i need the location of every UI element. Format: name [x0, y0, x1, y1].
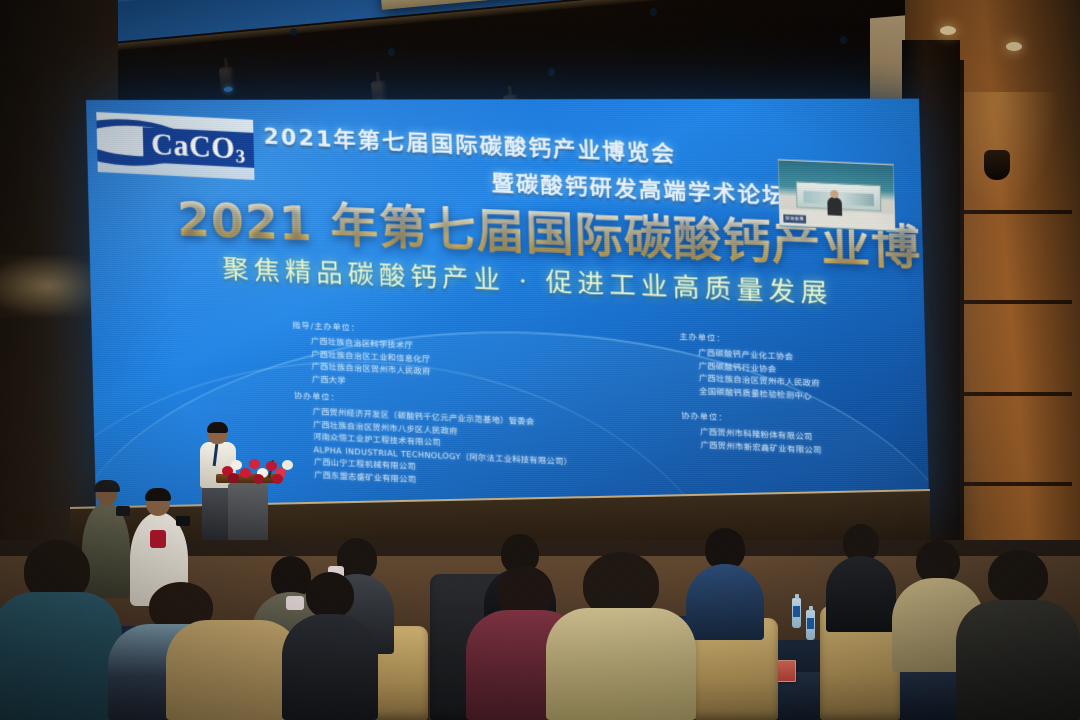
person-body	[0, 592, 122, 720]
speaker-hair	[207, 422, 228, 433]
organizer-block-right-primary: 主办单位： 广西碳酸钙产业化工协会 广西碳酸钙行业协会 广西壮族自治区贺州市人民…	[679, 331, 820, 403]
downlight-icon	[940, 26, 956, 35]
ceiling-fixture-icon	[388, 48, 395, 56]
person-body	[546, 608, 696, 720]
caco3-logo-subscript: 3	[235, 146, 246, 168]
audience-person	[686, 528, 764, 640]
conference-hall-photo: CaCO3 2021年第七届国际碳酸钙产业博览会 暨碳酸钙研发高端学术论坛 20…	[0, 0, 1080, 720]
inset-person	[827, 197, 842, 216]
camera-icon	[176, 516, 190, 526]
stage-spotlight-icon	[218, 57, 236, 92]
person-body	[686, 564, 764, 640]
ceiling-fixture-icon	[290, 28, 297, 36]
face-mask	[286, 596, 304, 610]
person-body	[956, 600, 1080, 720]
wall-plank-divider	[964, 300, 1072, 304]
audience-person	[956, 550, 1080, 720]
person-body	[826, 556, 896, 632]
ceiling-fixture-icon	[840, 36, 847, 44]
person-body	[282, 614, 378, 720]
live-video-inset: 现场直播	[778, 159, 896, 231]
caco3-logo-formula: CaCO	[151, 127, 236, 164]
photographer-jersey-emblem	[150, 530, 166, 548]
support-block-right: 协办单位： 广西贺州市科隆粉体有限公司 广西贺州市新宏鑫矿业有限公司	[681, 410, 822, 457]
audience-person	[282, 572, 378, 720]
inset-label: 现场直播	[783, 214, 806, 223]
wall-plank-divider	[964, 482, 1072, 486]
ceiling-speaker-icon	[984, 150, 1010, 180]
person-head	[988, 550, 1048, 604]
wall-plank-divider	[964, 392, 1072, 396]
photographer-hair	[145, 488, 171, 501]
person-head	[306, 572, 354, 618]
organizer-heading-right: 主办单位：	[679, 331, 819, 348]
caco3-logo: CaCO3	[96, 112, 254, 180]
water-bottle	[792, 598, 801, 628]
photographer-cap-icon	[94, 480, 120, 492]
right-wood-wall	[905, 0, 1080, 620]
coorganizer-block-left: 协办单位： 广西贺州经济开发区（碳酸钙千亿元产业示范基地）管委会 广西壮族自治区…	[294, 390, 573, 494]
audience-person	[0, 540, 122, 720]
organizer-block-left-primary: 指导/主办单位： 广西壮族自治区科学技术厅 广西壮族自治区工业和信息化厅 广西壮…	[292, 320, 431, 392]
audience-person	[826, 524, 896, 632]
podium-flower-arrangement	[220, 456, 294, 482]
water-bottle	[806, 610, 815, 640]
wall-plank-divider	[964, 210, 1072, 214]
ceiling-fixture-icon	[548, 68, 555, 76]
audience-person	[546, 552, 696, 720]
ceiling-fixture-icon	[650, 8, 657, 16]
caco3-logo-text: CaCO3	[143, 127, 254, 168]
downlight-icon	[1006, 42, 1022, 51]
